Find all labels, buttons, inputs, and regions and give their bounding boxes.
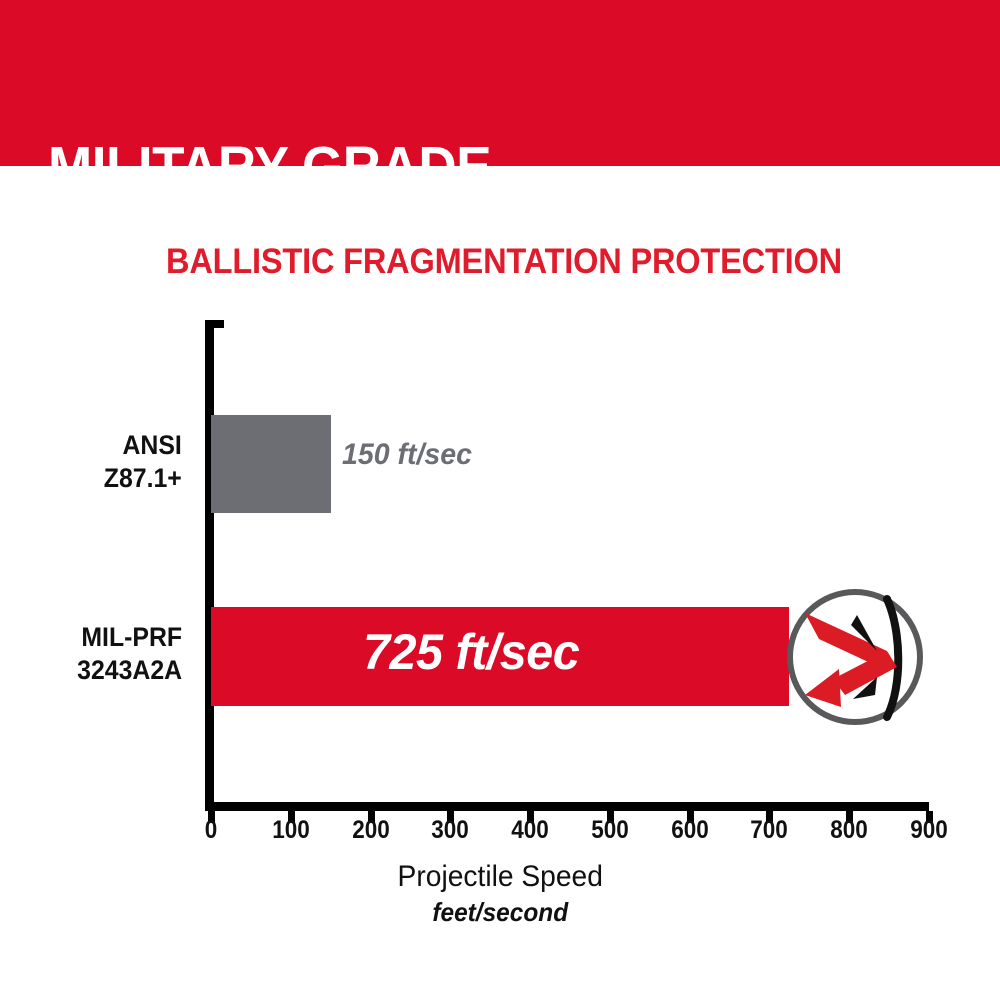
y-axis-top-cap	[205, 320, 224, 328]
x-axis-subtitle-text: feet/second	[432, 897, 568, 928]
x-axis-tick-label: 600	[671, 816, 709, 845]
x-axis-tick-label: 700	[751, 816, 789, 845]
category-label-mil-prf-3243a2a: MIL-PRF 3243A2A	[77, 621, 182, 687]
x-axis-tick-label: 200	[352, 816, 390, 845]
x-axis-title-text: Projectile Speed	[397, 860, 602, 894]
x-axis-title: Projectile Speed	[0, 860, 1000, 894]
value-label-ansi-z87: 150 ft/sec	[342, 438, 472, 472]
category-label-line-2: 3243A2A	[77, 654, 182, 687]
impact-deflection-icon	[783, 585, 927, 729]
y-axis-line	[205, 320, 214, 810]
x-axis-tick-label: 300	[432, 816, 470, 845]
category-label-line-1: MIL-PRF	[77, 621, 182, 654]
x-axis-tick-label: 800	[830, 816, 868, 845]
x-axis-tick-label: 400	[511, 816, 549, 845]
bar-ansi-z87	[211, 415, 331, 513]
category-label-line-1: ANSI	[104, 429, 182, 462]
x-axis-tick-label: 100	[272, 816, 310, 845]
category-label-ansi-z87: ANSI Z87.1+	[104, 429, 182, 495]
x-axis-subtitle: feet/second	[0, 897, 1000, 928]
x-axis-tick-label: 500	[591, 816, 629, 845]
x-axis-tick-label: 0	[205, 816, 218, 845]
x-axis-line	[205, 802, 929, 811]
category-label-line-2: Z87.1+	[104, 462, 182, 495]
x-axis-tick-label: 900	[910, 816, 948, 845]
value-label-mil-prf-3243a2a: 725 ft/sec	[363, 623, 579, 681]
chart-plot-area: 0 100 200 300 400 500 600 700 800 900 AN…	[0, 0, 1000, 1000]
